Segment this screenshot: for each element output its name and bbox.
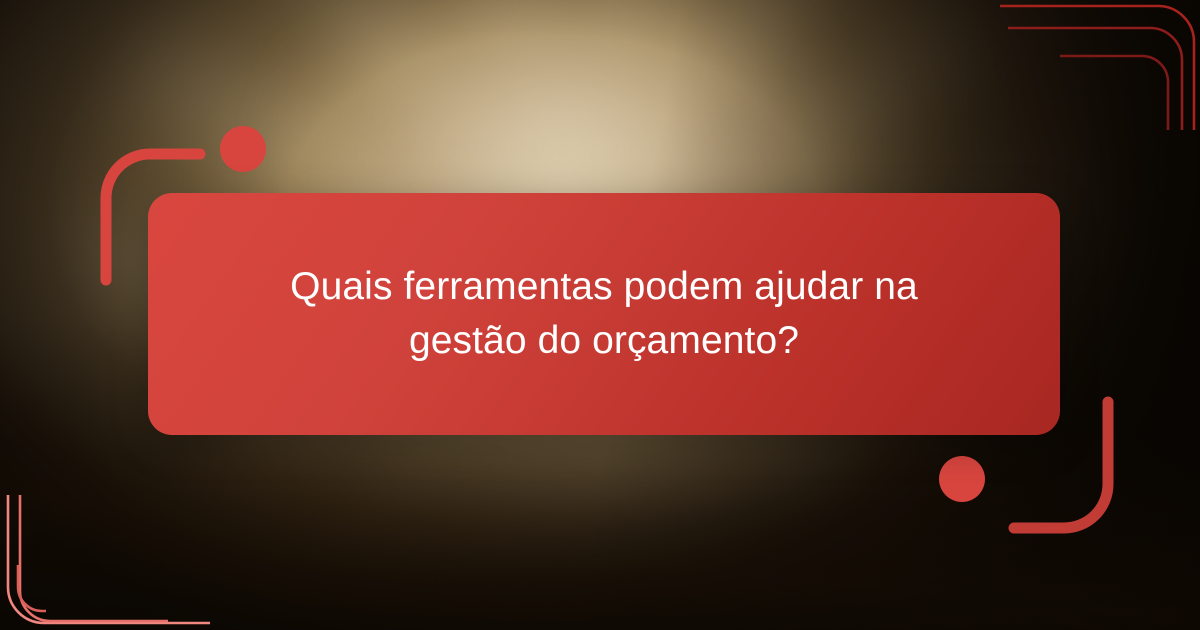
question-text: Quais ferramentas podem ajudar na gestão…	[254, 260, 954, 368]
accent-dot-top-left	[220, 126, 266, 172]
poster-canvas: Quais ferramentas podem ajudar na gestão…	[0, 0, 1200, 630]
accent-dot-bottom-right	[939, 456, 985, 502]
question-card: Quais ferramentas podem ajudar na gestão…	[148, 193, 1060, 435]
